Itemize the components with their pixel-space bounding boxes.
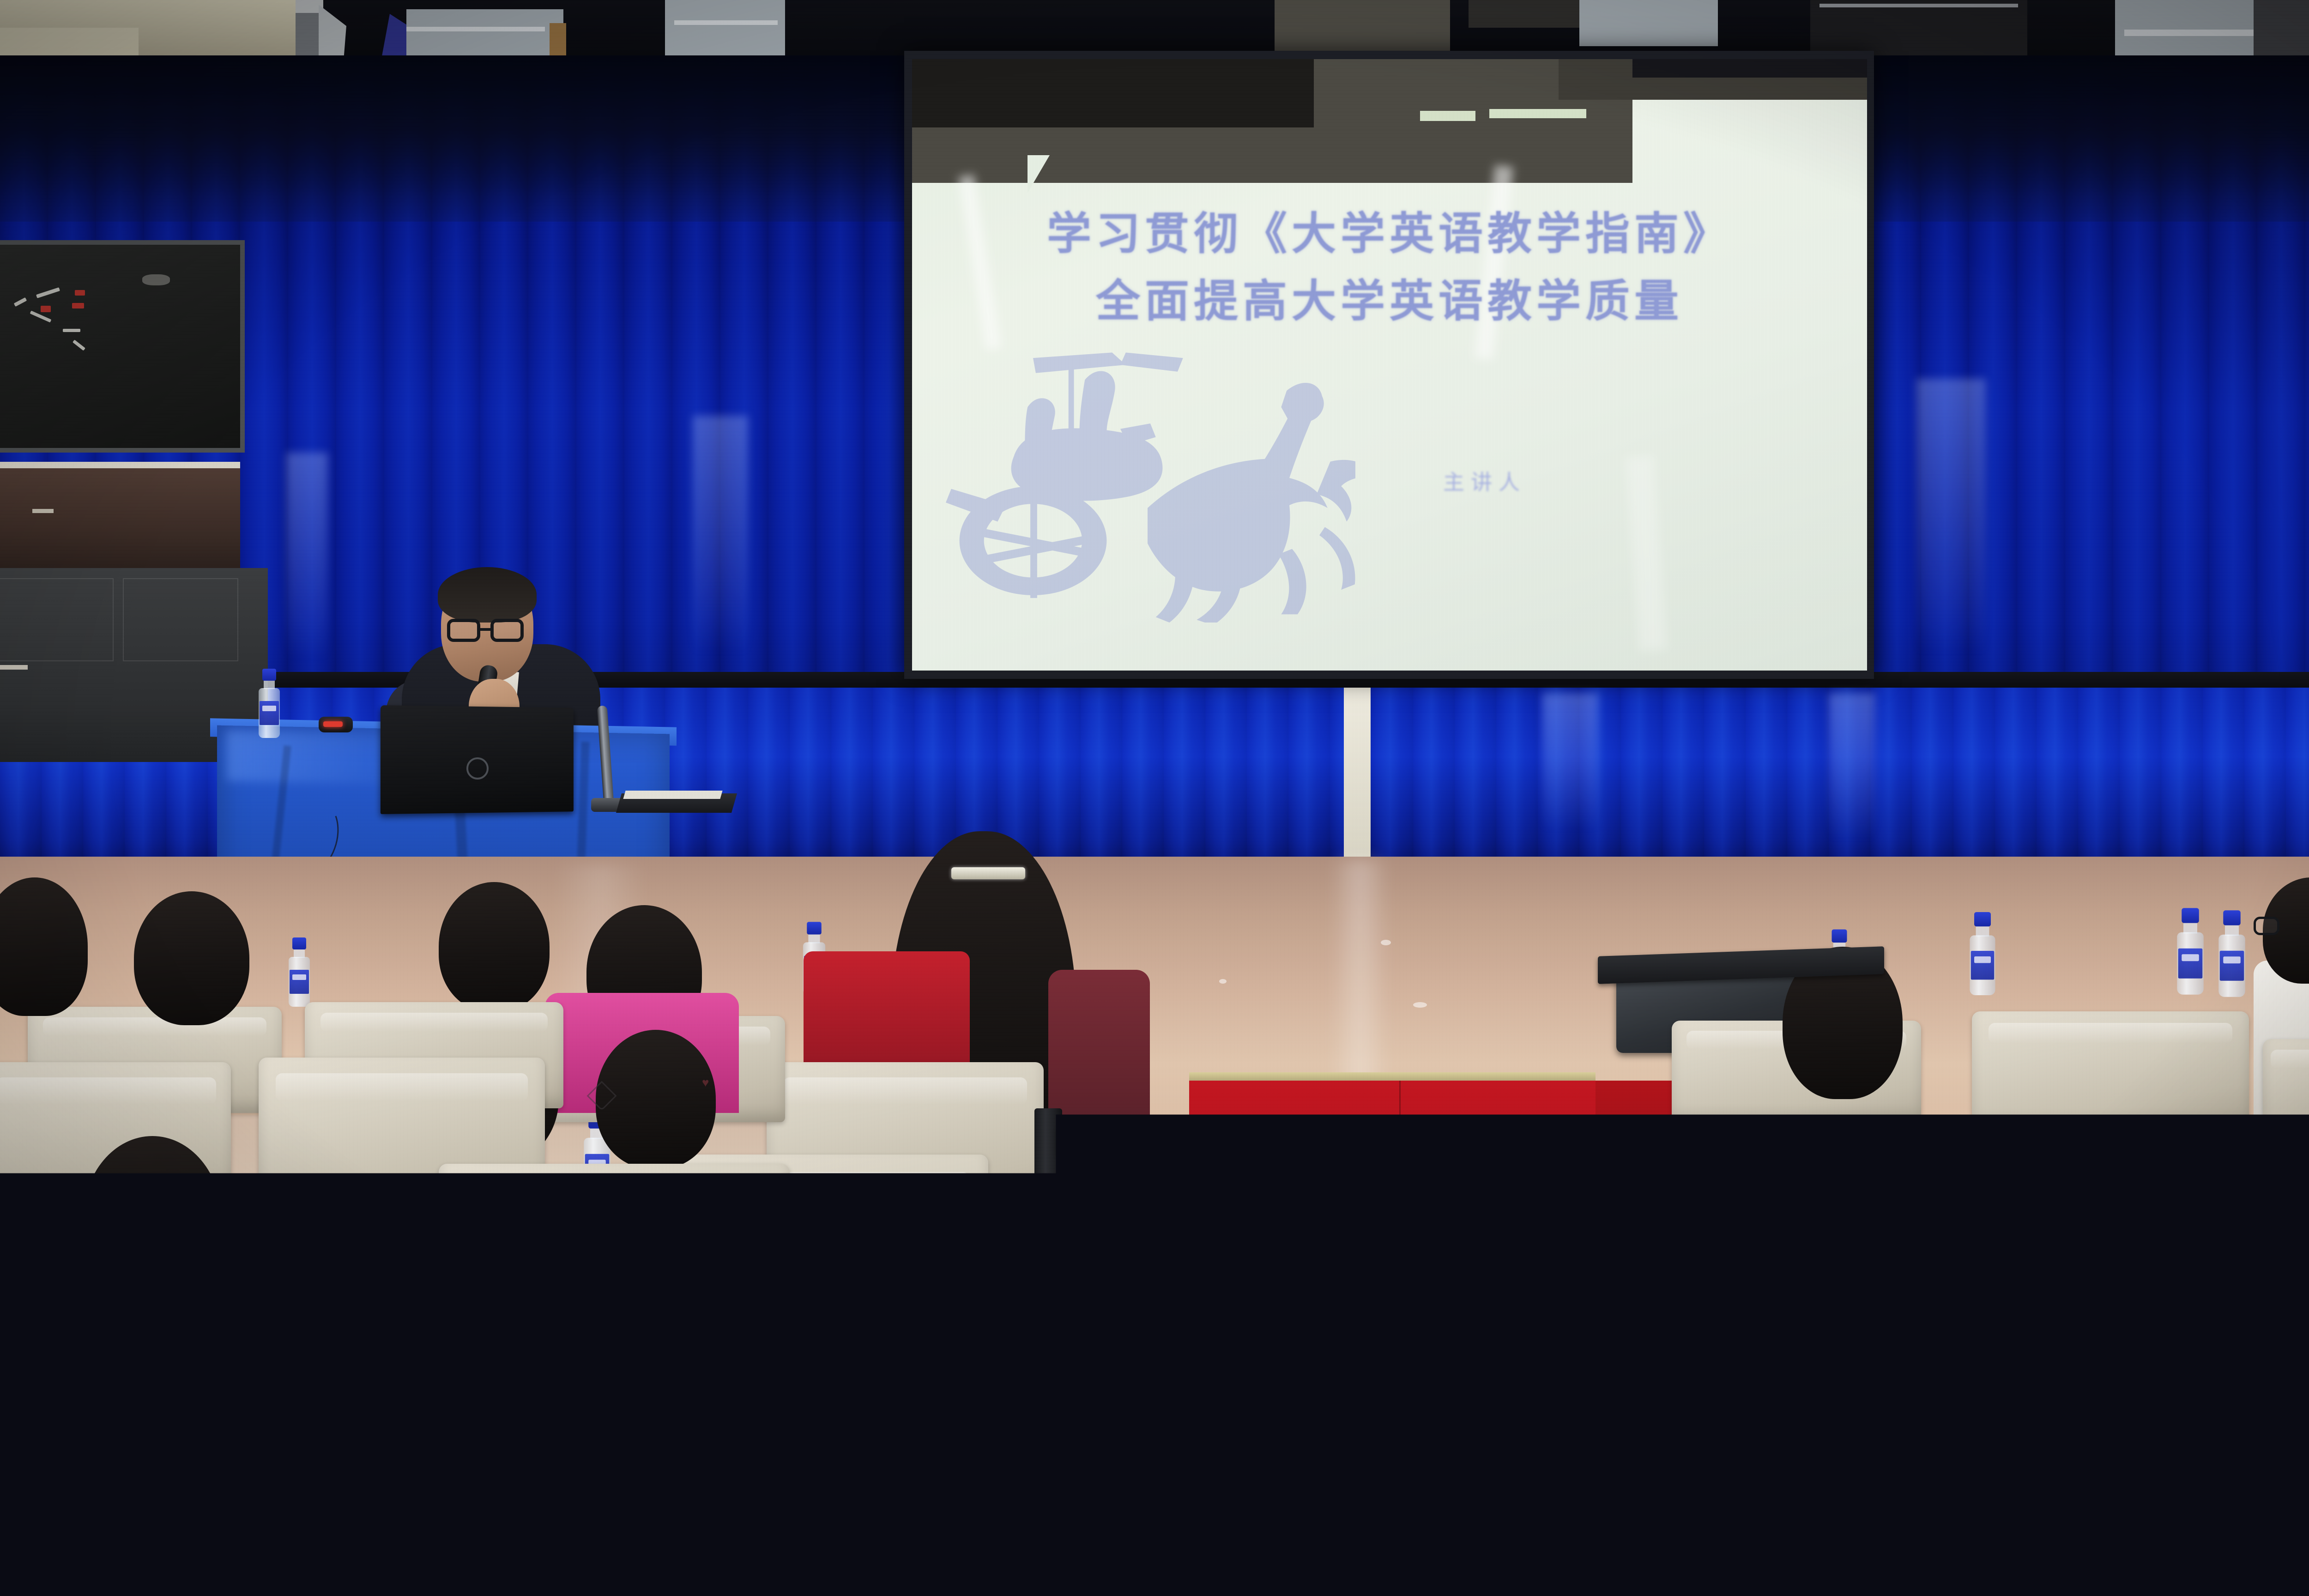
curtain-sheen <box>693 416 748 656</box>
floor-reflection <box>1330 859 1390 1099</box>
ceiling-panel <box>1275 0 1450 55</box>
hair-clip <box>951 867 1025 879</box>
lecture-hall-photo: 学习贯彻《大学英语教学指南》 全面提高大学英语教学质量 主讲人 <box>0 0 2309 1596</box>
presenter-glasses-bridge <box>480 628 491 631</box>
audience-glasses <box>2254 917 2279 935</box>
board-red-mark <box>75 290 85 296</box>
ceiling-panel <box>1579 0 1718 46</box>
bottle-label <box>2178 949 2203 979</box>
ceiling-light-strip <box>1819 4 2018 7</box>
seat-back[interactable] <box>1626 1510 1949 1596</box>
seat-back[interactable]: W <box>439 1164 790 1330</box>
floor-tile-line <box>1182 1422 1598 1424</box>
bottle-label <box>2220 951 2244 981</box>
bottle-cap <box>292 937 306 949</box>
desk-top <box>1058 1127 1173 1155</box>
desk-top <box>1002 1238 1150 1270</box>
audience-head <box>439 882 550 1011</box>
screen-beam-shadow <box>1420 111 1475 121</box>
seat-frame <box>1704 1182 1729 1441</box>
clicker-led-icon <box>323 721 343 727</box>
board-chalk-mark <box>30 311 52 323</box>
screen-beam-shadow <box>1489 109 1586 118</box>
wall-blackboard <box>0 240 245 453</box>
seat-graffiti-heart-icon <box>162 1228 192 1258</box>
presenter-glasses-right <box>490 619 524 642</box>
presenter-glasses-left <box>447 619 480 642</box>
bottle-cap <box>2182 908 2199 923</box>
presenter-hair <box>438 567 537 623</box>
desk-edge <box>665 1312 813 1339</box>
bottle-label <box>260 701 279 725</box>
ceiling-light-strip <box>406 27 545 31</box>
ceiling-light-strip <box>674 20 778 25</box>
cabinet-handle <box>32 509 54 513</box>
screen-beam-shadow <box>1632 59 1867 78</box>
bottle-cap <box>807 922 822 934</box>
seat-graffiti-text: W <box>633 1210 644 1224</box>
seat-back[interactable] <box>1732 1312 2110 1505</box>
ceiling-panel <box>2254 0 2309 55</box>
board-chalk-mark <box>142 274 170 285</box>
water-bottle[interactable] <box>289 937 310 1007</box>
water-bottle[interactable] <box>2218 910 2245 997</box>
floor-tile-line <box>1182 1288 1598 1290</box>
han-dynasty-chariot-logo <box>940 336 1355 623</box>
curtain-gap <box>1344 688 1371 859</box>
seat-back[interactable] <box>610 1459 1007 1596</box>
floor-speck <box>1219 979 1227 984</box>
cabinet-handle <box>0 665 28 670</box>
bottle-label <box>1971 951 1994 979</box>
water-bottle[interactable] <box>1970 912 1995 995</box>
curtain-sheen <box>1829 693 1875 840</box>
audience-head <box>596 1030 716 1168</box>
curtain-sheen <box>1542 693 1598 831</box>
audience-torso <box>1048 970 1150 1201</box>
bottle-cap <box>1832 930 1847 943</box>
wall-cabinet <box>0 462 240 568</box>
seat-frame <box>988 1275 1016 1427</box>
curtain-sheen <box>1916 379 1986 656</box>
floor-speck <box>1413 1002 1427 1008</box>
board-red-mark <box>41 306 51 312</box>
seat-back[interactable] <box>2000 1127 2309 1284</box>
slide-title-line2: 全面提高大学英语教学质量 <box>912 265 1867 329</box>
floor-tile-line <box>1182 1538 1598 1540</box>
desk-top <box>1963 1538 2286 1596</box>
seat-graffiti-text: Hello <box>249 1247 276 1261</box>
seat-back[interactable] <box>1972 1011 2249 1127</box>
seat-back[interactable] <box>2143 1288 2309 1487</box>
bottle-cap <box>1974 912 1991 926</box>
paper-sheet[interactable] <box>623 791 722 799</box>
board-chalk-mark <box>14 297 27 307</box>
projection-screen: 学习贯彻《大学英语教学指南》 全面提高大学英语教学质量 主讲人 <box>912 59 1867 671</box>
bottle-cap <box>2223 910 2241 925</box>
board-chalk-mark <box>36 287 60 298</box>
bottle-label <box>290 970 309 994</box>
board-chalk-mark <box>73 340 85 351</box>
screen-glare <box>1475 165 1513 360</box>
cabinet-door[interactable] <box>123 578 238 661</box>
slide-title-line1: 学习贯彻《大学英语教学指南》 <box>912 198 1867 262</box>
floor-speck <box>1381 940 1391 945</box>
water-bottle[interactable] <box>259 669 280 738</box>
curtain-sheen <box>286 453 328 660</box>
water-bottle[interactable] <box>2177 908 2204 995</box>
board-chalk-mark <box>63 329 80 332</box>
dell-logo-icon <box>466 757 489 780</box>
cabinet-door[interactable] <box>0 578 114 661</box>
ceiling-panel <box>1810 0 2027 55</box>
seat-back[interactable] <box>69 1492 586 1596</box>
bottle-cap <box>262 669 276 681</box>
screen-beam-shadow <box>912 59 1314 127</box>
audience-head <box>134 891 249 1025</box>
board-red-mark <box>72 303 84 308</box>
slide-presenter-name: 主讲人 <box>1443 465 1637 496</box>
seat-back[interactable] <box>28 1330 397 1515</box>
stage-riser-edge <box>1189 1072 1596 1082</box>
seat-frame <box>1584 1127 1612 1385</box>
